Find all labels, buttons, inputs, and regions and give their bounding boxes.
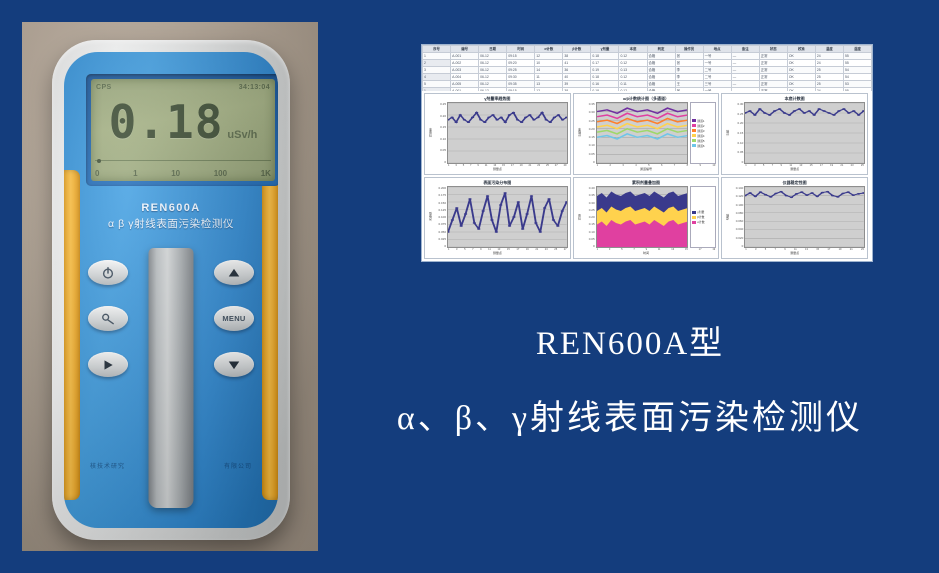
table-cell: A-001 xyxy=(451,88,479,92)
table-cell: 13 xyxy=(535,81,563,88)
table-cell: 24 xyxy=(815,53,843,60)
chart-data-point xyxy=(847,112,850,114)
chart-data-point xyxy=(532,119,535,121)
backlight-button[interactable] xyxy=(88,306,128,331)
chart-y-ticks: 0.1400.1200.1000.0800.0600.0400.0200 xyxy=(731,186,744,248)
chart-data-point xyxy=(780,191,783,193)
legend-item: 通道3 xyxy=(692,129,714,133)
y-tick: 0.10 xyxy=(583,230,595,234)
chart-data-point xyxy=(561,210,564,212)
x-tick: 11 xyxy=(485,164,488,167)
y-tick: 0 xyxy=(731,244,743,248)
x-tick: 29 xyxy=(564,164,567,167)
table-cell: 3 xyxy=(423,67,451,74)
table-cell: 张 xyxy=(675,88,703,92)
x-tick: 7 xyxy=(472,248,473,251)
chart-data-point xyxy=(549,121,552,123)
y-tick: 0.080 xyxy=(731,211,743,215)
table-row[interactable]: 1A-00106-1209:1512380.180.12合格张一号—正常OK24… xyxy=(423,53,872,60)
table-cell: 54 xyxy=(843,74,871,81)
x-tick: 1 xyxy=(597,248,598,251)
chart-data-point xyxy=(557,114,560,116)
x-tick: 23 xyxy=(851,164,854,167)
chart-y-axis-label: 剂量 xyxy=(576,186,583,248)
chart-panel[interactable]: 表面污染分布图污染值0.2000.1750.1500.1250.1000.075… xyxy=(424,177,571,259)
chart-y-ticks: 0.400.350.300.250.200.150.100.050 xyxy=(583,186,596,248)
triangle-right-icon xyxy=(101,358,115,372)
play-button[interactable] xyxy=(88,352,128,377)
table-cell: 李 xyxy=(675,74,703,81)
chart-data-point xyxy=(749,110,752,112)
chart-data-point xyxy=(540,112,543,114)
x-tick: 5 xyxy=(765,248,766,251)
table-cell: — xyxy=(731,74,759,81)
table-cell: 06-12 xyxy=(479,74,507,81)
chart-data-point xyxy=(852,110,855,112)
x-tick: 8 xyxy=(687,164,688,167)
chart-data-point xyxy=(803,112,806,114)
x-tick: 21 xyxy=(535,248,538,251)
chart-data-point xyxy=(842,193,845,195)
legend-swatch xyxy=(692,129,696,132)
chart-data-point xyxy=(534,222,537,224)
chart-plot-area xyxy=(596,102,689,164)
table-cell: 12 xyxy=(535,88,563,92)
chart-data-point xyxy=(823,110,826,112)
data-grid-col-10: 地点 xyxy=(703,46,731,53)
y-tick: 0.100 xyxy=(434,215,446,219)
chart-line-series xyxy=(597,129,688,134)
lcd-tick-3: 100 xyxy=(214,169,227,178)
chart-data-point xyxy=(828,112,831,114)
chart-y-axis-label: 污染值 xyxy=(427,186,434,248)
data-grid-col-14: 温度 xyxy=(815,46,843,53)
x-tick: 27 xyxy=(564,248,567,251)
device-model-text: REN600A xyxy=(64,202,278,214)
lcd-tick-4: 1K xyxy=(261,169,271,178)
legend-swatch xyxy=(692,211,696,214)
x-tick: 23 xyxy=(537,164,540,167)
chart-data-point xyxy=(831,195,834,197)
x-tick: 5 xyxy=(463,164,464,167)
up-button[interactable] xyxy=(214,260,254,285)
chart-data-point xyxy=(508,114,511,116)
chart-data-point xyxy=(467,121,470,123)
table-cell: 合格 xyxy=(647,74,675,81)
table-cell: 55 xyxy=(843,60,871,67)
y-tick: 0.30 xyxy=(731,102,743,106)
y-tick: 0.40 xyxy=(583,186,595,190)
y-tick: 0.125 xyxy=(434,208,446,212)
x-tick: 25 xyxy=(554,248,557,251)
chart-data-point xyxy=(773,110,776,112)
table-cell: 55 xyxy=(843,53,871,60)
table-cell: 合格 xyxy=(647,88,675,92)
table-cell: 1 xyxy=(423,53,451,60)
y-tick: 0.140 xyxy=(731,186,743,190)
chart-data-point xyxy=(450,117,453,119)
chart-data-point xyxy=(481,210,484,212)
chart-data-point xyxy=(455,207,458,209)
table-cell: 09:20 xyxy=(507,60,535,67)
table-cell: 1 xyxy=(423,88,451,92)
table-cell: OK xyxy=(787,74,815,81)
y-tick: 0.075 xyxy=(434,222,446,226)
chart-data-point xyxy=(486,195,489,197)
chart-line-series xyxy=(597,134,688,139)
x-tick: 21 xyxy=(528,164,531,167)
chart-data-point xyxy=(491,114,494,116)
table-cell: 24 xyxy=(815,60,843,67)
chart-panel[interactable]: γ剂量率趋势图剂量率0.250.200.150.100.050135791113… xyxy=(424,93,571,175)
chart-data-point xyxy=(749,192,752,194)
chart-y-ticks: 0.350.300.250.200.150.100.050 xyxy=(583,102,596,164)
data-grid-col-1: 编号 xyxy=(451,46,479,53)
chart-plot-area xyxy=(447,186,568,248)
chart-data-point xyxy=(459,114,462,116)
x-tick: 21 xyxy=(850,248,853,251)
chart-panel[interactable]: α/β计数统计图（多通道）计数率0.350.300.250.200.150.10… xyxy=(573,93,720,175)
table-cell: 14 xyxy=(535,67,563,74)
chart-data-point xyxy=(545,119,548,121)
table-cell: 0.18 xyxy=(591,53,619,60)
chart-data-point xyxy=(816,196,819,198)
chart-data-point xyxy=(468,198,471,200)
table-cell: OK xyxy=(787,67,815,74)
device-label: REN600A α β γ射线表面污染检测仪 xyxy=(64,202,278,231)
power-button[interactable] xyxy=(88,260,128,285)
legend-item: 通道6 xyxy=(692,144,714,148)
chart-data-point xyxy=(464,213,467,215)
y-tick: 0 xyxy=(434,160,446,164)
lcd-value: 0.18 xyxy=(109,99,224,145)
chart-data-point xyxy=(793,110,796,112)
table-cell: 09:15 xyxy=(507,88,535,92)
y-tick: 0.25 xyxy=(731,112,743,116)
table-cell: — xyxy=(731,53,759,60)
legend-swatch xyxy=(692,216,696,219)
legend-item: α计数 xyxy=(692,220,714,224)
table-cell: 王 xyxy=(675,81,703,88)
chart-data-point xyxy=(451,219,454,221)
table-cell: 39 xyxy=(563,81,591,88)
x-tick: 3 xyxy=(754,164,755,167)
y-tick: 0.20 xyxy=(731,121,743,125)
table-row[interactable]: 1A-00106-1209:1512380.180.12合格张一号—正常OK24… xyxy=(423,88,872,92)
data-grid-col-15: 湿度 xyxy=(843,46,871,53)
y-tick: 0.050 xyxy=(434,230,446,234)
table-cell: 正常 xyxy=(759,67,787,74)
chart-data-point xyxy=(524,117,527,119)
table-cell: OK xyxy=(787,53,815,60)
chart-data-point xyxy=(754,114,757,116)
x-tick: 3 xyxy=(622,164,623,167)
x-tick: 17 xyxy=(511,164,514,167)
chart-data-point xyxy=(783,112,786,114)
y-tick: 0.15 xyxy=(583,135,595,139)
lcd-tick-0: 0 xyxy=(95,169,99,178)
chart-panel[interactable]: 仪器稳定性图读数0.1400.1200.1000.0800.0600.0400.… xyxy=(721,177,868,259)
table-cell: OK xyxy=(787,81,815,88)
legend-label: 通道6 xyxy=(697,144,704,148)
chart-data-point xyxy=(471,117,474,119)
chart-data-point xyxy=(520,121,523,123)
chart-plot-area xyxy=(447,102,568,164)
power-icon xyxy=(101,266,115,280)
legend-item: 通道5 xyxy=(692,139,714,143)
table-cell: 06-12 xyxy=(479,67,507,74)
chart-data-point xyxy=(763,112,766,114)
table-cell: — xyxy=(731,67,759,74)
legend-swatch xyxy=(692,119,696,122)
y-tick: 0.35 xyxy=(583,102,595,106)
chart-y-ticks: 0.2000.1750.1500.1250.1000.0750.0500.025… xyxy=(434,186,447,248)
table-cell: 11 xyxy=(535,74,563,81)
y-tick: 0.25 xyxy=(583,119,595,123)
table-cell: 10 xyxy=(535,60,563,67)
chart-data-point xyxy=(508,225,511,227)
chart-data-point xyxy=(785,195,788,197)
down-button[interactable] xyxy=(214,352,254,377)
x-tick: 9 xyxy=(480,248,481,251)
x-tick: 21 xyxy=(840,164,843,167)
chart-data-point xyxy=(821,192,824,194)
x-tick: 9 xyxy=(781,164,782,167)
table-cell: A-003 xyxy=(451,67,479,74)
y-tick: 0 xyxy=(583,160,595,164)
legend-item: 通道2 xyxy=(692,124,714,128)
chart-data-point xyxy=(479,119,482,121)
legend-swatch xyxy=(692,124,696,127)
x-tick: 11 xyxy=(658,248,661,251)
table-cell: 0.13 xyxy=(619,67,647,74)
table-cell: 2 xyxy=(423,60,451,67)
chart-data-point xyxy=(455,121,458,123)
table-cell: 38 xyxy=(563,88,591,92)
table-cell: 二号 xyxy=(703,67,731,74)
device-chinese-text: α β γ射线表面污染检测仪 xyxy=(64,216,278,231)
x-tick: 17 xyxy=(699,248,702,251)
chart-data-point xyxy=(517,201,520,203)
x-tick: 25 xyxy=(861,164,864,167)
x-tick: 1 xyxy=(448,248,449,251)
chart-panel[interactable]: 累积剂量叠加图剂量0.400.350.300.250.200.150.100.0… xyxy=(573,177,720,259)
table-row[interactable]: 2A-00206-1209:2010410.170.12合格张一号—正常OK24… xyxy=(423,60,872,67)
x-tick: 3 xyxy=(456,248,457,251)
chart-y-axis-label: 计数率 xyxy=(576,102,583,164)
x-tick: 23 xyxy=(861,248,864,251)
lcd-reading: 0.18 uSv/h xyxy=(91,99,275,155)
table-cell: A-002 xyxy=(451,60,479,67)
x-tick: 7 xyxy=(633,248,634,251)
menu-button[interactable]: MENU xyxy=(214,306,254,331)
chart-data-point xyxy=(806,194,809,196)
x-tick: 5 xyxy=(763,164,764,167)
data-grid-col-7: 本底 xyxy=(619,46,647,53)
data-grid[interactable]: 序号编号日期时间α计数β计数γ剂量本底判定操作员地点备注状态校准温度湿度 1A-… xyxy=(422,45,872,91)
y-tick: 0.25 xyxy=(583,208,595,212)
table-cell: 一号 xyxy=(703,88,731,92)
table-cell: 25 xyxy=(815,74,843,81)
table-cell: 0.11 xyxy=(619,81,647,88)
table-cell: A-004 xyxy=(451,74,479,81)
table-cell: 55 xyxy=(843,88,871,92)
table-cell: A-001 xyxy=(451,53,479,60)
chart-data-point xyxy=(512,112,515,114)
y-tick: 0.175 xyxy=(434,193,446,197)
x-tick: 19 xyxy=(520,164,523,167)
y-tick: 0 xyxy=(434,244,446,248)
table-cell: 李 xyxy=(675,67,703,74)
table-cell: 正常 xyxy=(759,74,787,81)
table-cell: A-005 xyxy=(451,81,479,88)
device-footer-marks: 核技术研究 有限公司 xyxy=(64,461,278,470)
lcd-unit: uSv/h xyxy=(227,129,257,141)
chart-data-point xyxy=(842,108,845,110)
table-row[interactable]: 4A-00406-1209:3011400.180.12合格李二号—正常OK25… xyxy=(423,74,872,81)
table-cell: 38 xyxy=(563,53,591,60)
table-cell: 25 xyxy=(815,81,843,88)
x-tick: 7 xyxy=(674,164,675,167)
chart-x-axis-label: 时间 xyxy=(576,251,717,256)
x-tick: 9 xyxy=(477,164,478,167)
table-row[interactable]: 5A-00506-1209:3513390.160.11合格王三号—正常OK25… xyxy=(423,81,872,88)
chart-line-series xyxy=(597,108,688,113)
chart-data-point xyxy=(543,207,546,209)
y-tick: 0.025 xyxy=(434,237,446,241)
x-tick: 17 xyxy=(516,248,519,251)
chart-data-point xyxy=(857,193,860,195)
triangle-up-icon xyxy=(227,266,241,280)
chart-data-point xyxy=(813,114,816,116)
chart-data-point xyxy=(818,108,821,110)
table-cell: 0.12 xyxy=(619,53,647,60)
chart-panel[interactable]: 本底计数图计数0.300.250.200.150.100.05013579111… xyxy=(721,93,868,175)
chart-data-point xyxy=(483,121,486,123)
lcd-tick-2: 10 xyxy=(171,169,180,178)
x-tick: 1 xyxy=(597,164,598,167)
lcd-screen: CPS 34:13:04 0.18 uSv/h 0 1 10 100 xyxy=(91,79,275,181)
chart-data-point xyxy=(521,228,524,230)
lcd-bezel: CPS 34:13:04 0.18 uSv/h 0 1 10 100 xyxy=(86,74,278,186)
x-tick: 19 xyxy=(526,248,529,251)
table-cell: 合格 xyxy=(647,81,675,88)
y-tick: 0.060 xyxy=(731,219,743,223)
x-tick: 27 xyxy=(555,164,558,167)
table-cell: 二号 xyxy=(703,74,731,81)
table-cell: 张 xyxy=(675,53,703,60)
chart-line-series xyxy=(745,192,864,198)
table-cell: 一号 xyxy=(703,53,731,60)
data-grid-header-row: 序号编号日期时间α计数β计数γ剂量本底判定操作员地点备注状态校准温度湿度 xyxy=(423,46,872,53)
legend-item: β计数 xyxy=(692,215,714,219)
data-grid-col-0: 序号 xyxy=(423,46,451,53)
lcd-status-left: CPS xyxy=(96,84,112,91)
table-cell: 合格 xyxy=(647,60,675,67)
y-tick: 0.05 xyxy=(583,237,595,241)
data-grid-table: 序号编号日期时间α计数β计数γ剂量本底判定操作员地点备注状态校准温度湿度 1A-… xyxy=(422,45,872,91)
chart-data-point xyxy=(547,198,550,200)
table-cell: — xyxy=(731,60,759,67)
data-grid-col-6: γ剂量 xyxy=(591,46,619,53)
table-cell: 09:25 xyxy=(507,67,535,74)
chart-data-point xyxy=(499,204,502,206)
legend-label: β计数 xyxy=(697,215,704,219)
table-cell: 06-12 xyxy=(479,53,507,60)
table-cell: 36 xyxy=(563,67,591,74)
x-tick: 2 xyxy=(610,164,611,167)
chart-data-point xyxy=(795,193,798,195)
chart-data-point xyxy=(758,108,761,110)
legend-label: 通道4 xyxy=(697,134,704,138)
table-cell: 5 xyxy=(423,81,451,88)
table-cell: — xyxy=(731,81,759,88)
device-footer-left: 核技术研究 xyxy=(90,461,125,470)
chart-plot-area xyxy=(744,102,865,164)
y-tick: 0.200 xyxy=(434,186,446,190)
chart-data-point xyxy=(525,213,528,215)
y-tick: 0.100 xyxy=(731,203,743,207)
table-cell: 正常 xyxy=(759,81,787,88)
table-cell: 06-12 xyxy=(479,88,507,92)
x-tick: 17 xyxy=(820,164,823,167)
chart-data-point xyxy=(768,114,771,116)
y-tick: 0.05 xyxy=(583,152,595,156)
x-tick: 5 xyxy=(621,248,622,251)
x-tick: 13 xyxy=(671,248,674,251)
chart-data-point xyxy=(487,117,490,119)
x-tick: 4 xyxy=(635,164,636,167)
table-row[interactable]: 3A-00306-1209:2514360.190.13合格李二号—正常OK25… xyxy=(423,67,872,74)
x-tick: 9 xyxy=(700,164,701,167)
chart-data-point xyxy=(847,191,850,193)
chart-data-point xyxy=(512,216,515,218)
charts-container: γ剂量率趋势图剂量率0.250.200.150.100.050135791113… xyxy=(422,91,872,261)
y-tick: 0.10 xyxy=(731,141,743,145)
software-screenshot: 序号编号日期时间α计数β计数γ剂量本底判定操作员地点备注状态校准温度湿度 1A-… xyxy=(421,44,873,262)
table-cell: 0.12 xyxy=(619,74,647,81)
x-tick: 6 xyxy=(661,164,662,167)
y-tick: 0.15 xyxy=(583,222,595,226)
device-footer-right: 有限公司 xyxy=(224,461,252,470)
table-cell: 合格 xyxy=(647,67,675,74)
page-title-line1: REN600A型 xyxy=(330,316,930,364)
legend-swatch xyxy=(692,144,696,147)
lcd-scale: 0 1 10 100 1K xyxy=(95,164,271,178)
data-grid-col-8: 判定 xyxy=(647,46,675,53)
y-tick: 0.25 xyxy=(434,102,446,106)
table-cell: 06-12 xyxy=(479,81,507,88)
table-cell: 0.16 xyxy=(591,81,619,88)
x-tick: 15 xyxy=(685,248,688,251)
chart-data-point xyxy=(808,110,811,112)
device-front-face: CPS 34:13:04 0.18 uSv/h 0 1 10 100 xyxy=(64,52,278,528)
chart-data-point xyxy=(788,114,791,116)
table-cell: 53 xyxy=(843,81,871,88)
chart-line-series xyxy=(745,109,864,115)
chart-data-point xyxy=(490,219,493,221)
chart-data-point xyxy=(826,191,829,193)
table-cell: 正常 xyxy=(759,88,787,92)
chart-data-point xyxy=(790,196,793,198)
table-cell: 正常 xyxy=(759,53,787,60)
data-grid-col-9: 操作员 xyxy=(675,46,703,53)
chart-data-point xyxy=(553,117,556,119)
legend-label: 通道3 xyxy=(697,129,704,133)
legend-label: 通道5 xyxy=(697,139,704,143)
y-tick: 0.10 xyxy=(583,143,595,147)
x-tick: 15 xyxy=(507,248,510,251)
